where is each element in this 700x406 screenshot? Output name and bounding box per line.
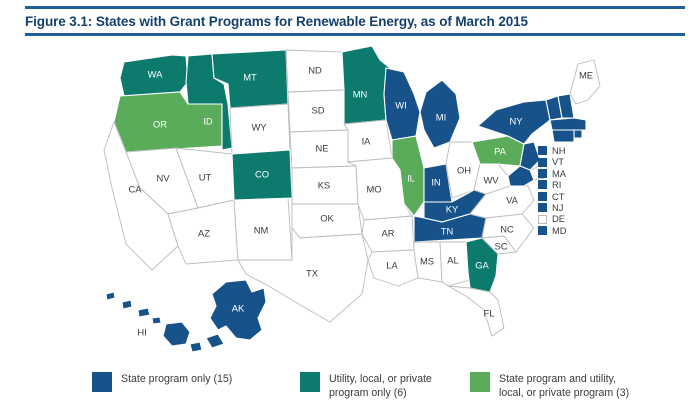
state-label-GA: GA: [475, 259, 489, 270]
figure-container: Figure 3.1: States with Grant Programs f…: [0, 0, 700, 406]
legend-swatch-navy: [92, 372, 112, 392]
state-label-NC: NC: [500, 223, 514, 234]
state-label-IN: IN: [431, 176, 440, 187]
state-label-MI: MI: [436, 111, 446, 122]
map-legend: State program only (15) Utility, local, …: [0, 366, 700, 406]
state-label-UT: UT: [199, 171, 212, 182]
legend-item-state-program-only: State program only (15): [92, 372, 232, 392]
legend-swatch-green: [470, 372, 490, 392]
state-label-WV: WV: [483, 174, 499, 185]
legend-item-state-and-utility: State program and utility,local, or priv…: [470, 372, 629, 400]
state-label-KS: KS: [318, 179, 331, 190]
state-label-MT: MT: [243, 71, 257, 82]
legend-swatch-teal: [300, 372, 320, 392]
state-label-SC: SC: [494, 240, 507, 251]
legend-label-utility-local-private: Utility, local, or privateprogram only (…: [329, 372, 432, 400]
state-label-IL: IL: [407, 172, 415, 183]
ne-label-ct: CT: [552, 191, 565, 202]
state-label-OK: OK: [320, 212, 334, 223]
state-label-IA: IA: [362, 135, 372, 146]
state-label-KY: KY: [446, 203, 459, 214]
page-title: Figure 3.1: States with Grant Programs f…: [25, 13, 685, 30]
ne-label-md: MD: [552, 225, 567, 236]
ne-row-ma: MA: [538, 168, 567, 179]
ne-label-de: DE: [552, 213, 565, 224]
ne-row-ct: CT: [538, 191, 567, 202]
ne-label-nh: NH: [552, 145, 566, 156]
state-label-SD: SD: [311, 104, 324, 115]
state-label-AL: AL: [447, 254, 458, 265]
state-HI[interactable]: [106, 292, 190, 346]
ne-row-md: MD: [538, 225, 567, 236]
ne-label-ri: RI: [552, 179, 561, 190]
state-label-NY: NY: [509, 115, 523, 126]
ne-label-nj: NJ: [552, 202, 563, 213]
ne-row-nj: NJ: [538, 202, 567, 213]
ne-swatch-nj: [538, 203, 547, 212]
state-label-LA: LA: [386, 259, 398, 270]
state-MN[interactable]: [342, 46, 390, 124]
state-label-NM: NM: [254, 224, 269, 235]
ne-swatch-md: [538, 226, 547, 235]
state-label-MS: MS: [420, 255, 434, 266]
ne-swatch-ri: [538, 180, 547, 189]
state-label-NV: NV: [156, 172, 170, 183]
state-label-ND: ND: [308, 64, 322, 75]
title-rule-top: [25, 6, 685, 9]
state-FL[interactable]: [448, 286, 504, 336]
state-label-OH: OH: [457, 164, 471, 175]
state-label-MO: MO: [366, 183, 381, 194]
state-label-AZ: AZ: [198, 227, 210, 238]
state-label-AR: AR: [381, 227, 394, 238]
state-CT[interactable]: [552, 130, 574, 142]
ne-label-ma: MA: [552, 168, 566, 179]
northeast-inset-legend: NH VT MA RI CT NJ DE MD: [538, 145, 567, 236]
figure-title-block: Figure 3.1: States with Grant Programs f…: [25, 6, 685, 36]
legend-item-utility-local-private: Utility, local, or privateprogram only (…: [300, 372, 432, 400]
legend-label-state-program-only: State program only (15): [121, 372, 232, 387]
state-label-HI: HI: [137, 326, 146, 337]
state-label-NE: NE: [315, 142, 328, 153]
ne-row-ri: RI: [538, 179, 567, 190]
ne-swatch-ct: [538, 192, 547, 201]
state-label-CO: CO: [255, 168, 269, 179]
title-rule-bottom: [25, 33, 685, 36]
ne-row-de: DE: [538, 213, 567, 224]
state-label-WY: WY: [251, 121, 267, 132]
state-label-TX: TX: [306, 267, 319, 278]
ne-label-vt: VT: [552, 156, 564, 167]
ne-swatch-de: [538, 215, 547, 224]
ne-swatch-vt: [538, 158, 547, 167]
state-label-ME: ME: [579, 69, 593, 80]
state-label-WI: WI: [395, 99, 406, 110]
state-ME[interactable]: [570, 60, 600, 104]
state-label-PA: PA: [494, 145, 507, 156]
ne-swatch-nh: [538, 146, 547, 155]
state-label-CA: CA: [128, 183, 142, 194]
state-label-WA: WA: [148, 68, 164, 79]
us-choropleth-map: WA OR ID MT ND SD NE WY CO NV UT CA AZ N…: [0, 38, 700, 368]
state-RI[interactable]: [574, 130, 582, 138]
state-label-AK: AK: [232, 302, 245, 313]
state-MA[interactable]: [550, 118, 586, 130]
state-label-FL: FL: [484, 307, 495, 318]
ne-swatch-ma: [538, 169, 547, 178]
state-label-VA: VA: [506, 194, 519, 205]
legend-label-state-and-utility: State program and utility,local, or priv…: [499, 372, 629, 400]
state-label-OR: OR: [153, 118, 167, 129]
state-label-TN: TN: [441, 225, 454, 236]
ne-row-nh: NH: [538, 145, 567, 156]
state-label-MN: MN: [353, 88, 368, 99]
state-AK[interactable]: [190, 280, 266, 352]
state-label-ID: ID: [203, 115, 213, 126]
ne-row-vt: VT: [538, 156, 567, 167]
